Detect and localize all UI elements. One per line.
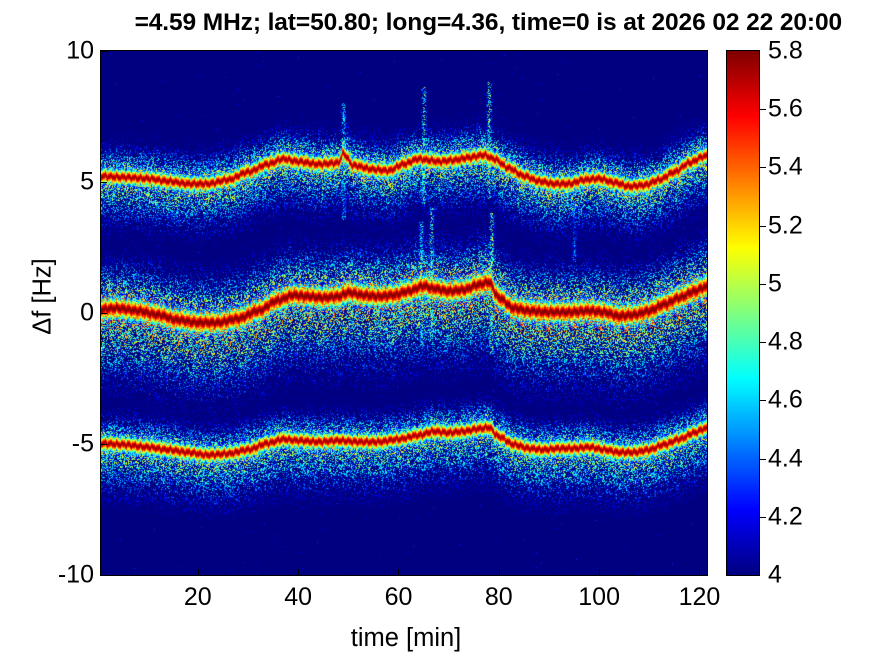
colorbar-tick-mark [759, 459, 766, 460]
colorbar-tick-label: 4.6 [768, 388, 875, 413]
y-axis-label: Δf [Hz] [29, 177, 58, 417]
colorbar-tick-label: 4.8 [768, 330, 875, 355]
x-tick-mark [699, 569, 700, 575]
colorbar-gradient [727, 51, 759, 575]
colorbar-tick-mark [759, 226, 766, 227]
x-tick-mark [298, 569, 299, 575]
colorbar-tick-mark [759, 167, 766, 168]
colorbar-tick-label: 5.8 [768, 39, 875, 64]
x-tick-mark [398, 569, 399, 575]
y-tick-mark [101, 182, 107, 183]
x-tick-mark [599, 569, 600, 575]
y-tick-mark [101, 444, 107, 445]
colorbar-tick-mark [759, 517, 766, 518]
colorbar-tick-label: 5.2 [768, 213, 875, 238]
y-tick-label: 10 [0, 39, 94, 64]
colorbar-tick-mark [759, 342, 766, 343]
x-tick-mark [499, 569, 500, 575]
figure-container: =4.59 MHz; lat=50.80; long=4.36, time=0 … [0, 0, 875, 656]
x-axis-label: time [min] [103, 624, 709, 653]
y-tick-mark [101, 313, 107, 314]
y-tick-label: -5 [0, 432, 94, 457]
colorbar-tick-label: 5 [768, 271, 875, 296]
colorbar-tick-label: 4.2 [768, 504, 875, 529]
colorbar-tick-label: 4.4 [768, 446, 875, 471]
spectrogram-image [101, 51, 707, 575]
y-tick-label: 5 [0, 170, 94, 195]
x-tick-mark [198, 569, 199, 575]
colorbar-tick-mark [759, 400, 766, 401]
colorbar[interactable] [726, 50, 760, 576]
y-tick-mark [101, 51, 107, 52]
colorbar-tick-label: 5.4 [768, 155, 875, 180]
colorbar-tick-label: 5.6 [768, 97, 875, 122]
y-tick-label: 0 [0, 301, 94, 326]
page-title: =4.59 MHz; lat=50.80; long=4.36, time=0 … [0, 6, 875, 40]
spectrogram-axes[interactable] [100, 50, 708, 576]
x-tick-label: 120 [639, 585, 759, 610]
y-tick-mark [101, 575, 107, 576]
colorbar-tick-mark [759, 109, 766, 110]
y-tick-label: -10 [0, 563, 94, 588]
colorbar-tick-label: 4 [768, 563, 875, 588]
colorbar-tick-mark [759, 284, 766, 285]
